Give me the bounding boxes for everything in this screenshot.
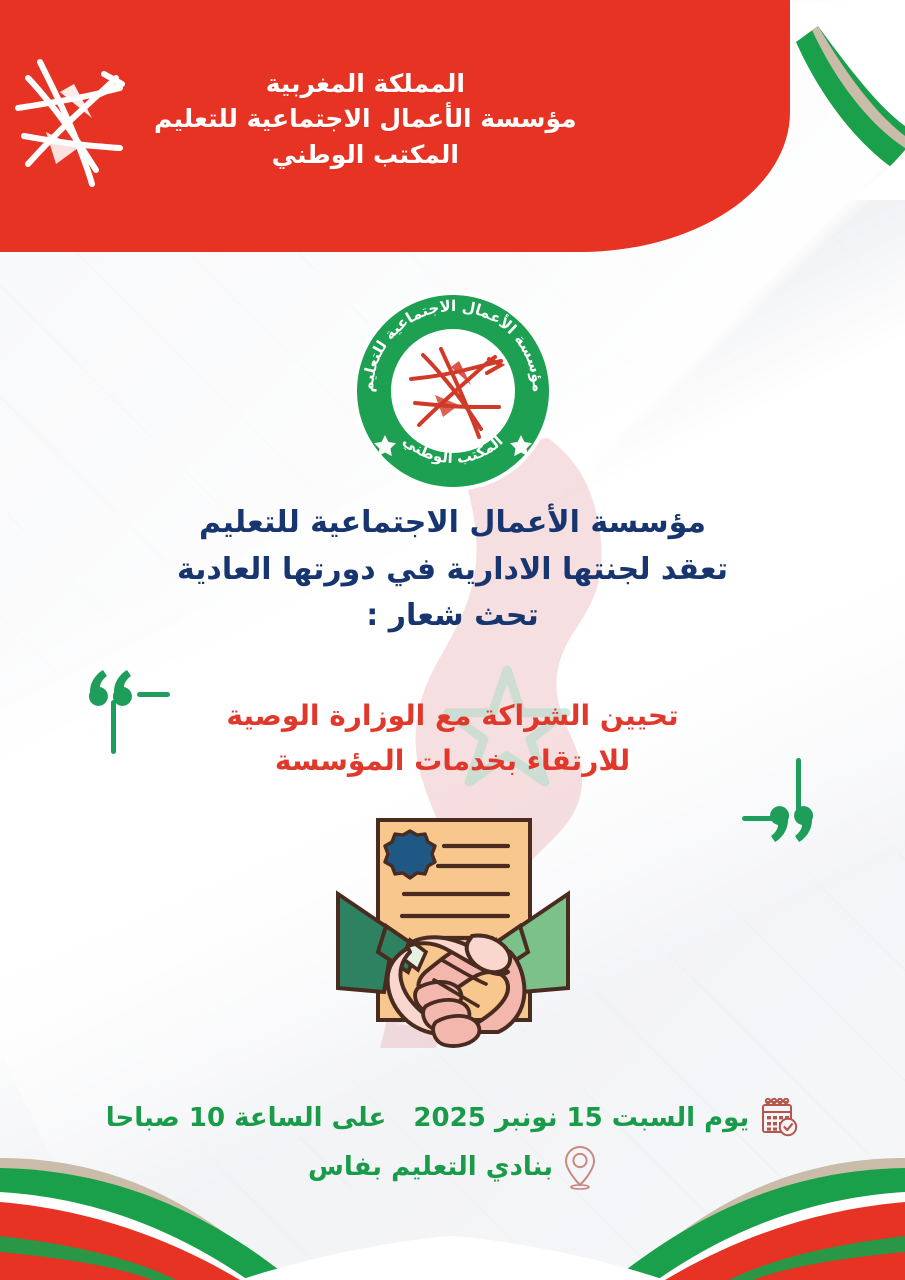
event-date-text: يوم السبت 15 نونبر 2025 على الساعة 10 صب…	[106, 1099, 749, 1138]
header-title-group: المملكة المغربية مؤسسة الأعمال الاجتماعي…	[154, 66, 577, 173]
main-heading-group: مؤسسة الأعمال الاجتماعية للتعليم تعقد لج…	[0, 500, 905, 640]
event-venue-text: بنادي التعليم بفاس	[308, 1148, 553, 1187]
event-details-group: يوم السبت 15 نونبر 2025 على الساعة 10 صب…	[0, 1098, 905, 1190]
moroccan-star-arrow-icon	[0, 44, 128, 194]
header-line-kingdom: المملكة المغربية	[154, 66, 577, 102]
poster-canvas: المملكة المغربية مؤسسة الأعمال الاجتماعي…	[0, 0, 905, 1280]
heading-line-3: تحث شعار :	[0, 593, 905, 640]
event-date-row: يوم السبت 15 نونبر 2025 على الساعة 10 صب…	[0, 1098, 905, 1138]
foundation-emblem-logo: مؤسسة الأعمال الاجتماعية للتعليم المكتب …	[349, 287, 557, 495]
header-line-foundation: مؤسسة الأعمال الاجتماعية للتعليم	[154, 101, 577, 137]
heading-line-2: تعقد لجنتها الادارية في دورتها العادية	[0, 547, 905, 594]
handshake-over-certificate-illustration	[322, 812, 584, 1052]
poster-header: المملكة المغربية مؤسسة الأعمال الاجتماعي…	[0, 0, 790, 252]
close-quote-icon	[742, 750, 832, 846]
slogan-line-1: تحيين الشراكة مع الوزارة الوصية	[0, 694, 905, 739]
blue-seal	[385, 831, 435, 878]
location-pin-icon	[563, 1144, 597, 1190]
heading-line-1: مؤسسة الأعمال الاجتماعية للتعليم	[0, 500, 905, 547]
event-venue-row: بنادي التعليم بفاس	[0, 1144, 905, 1190]
calendar-check-icon	[759, 1098, 799, 1138]
header-line-national-office: المكتب الوطني	[154, 137, 577, 173]
